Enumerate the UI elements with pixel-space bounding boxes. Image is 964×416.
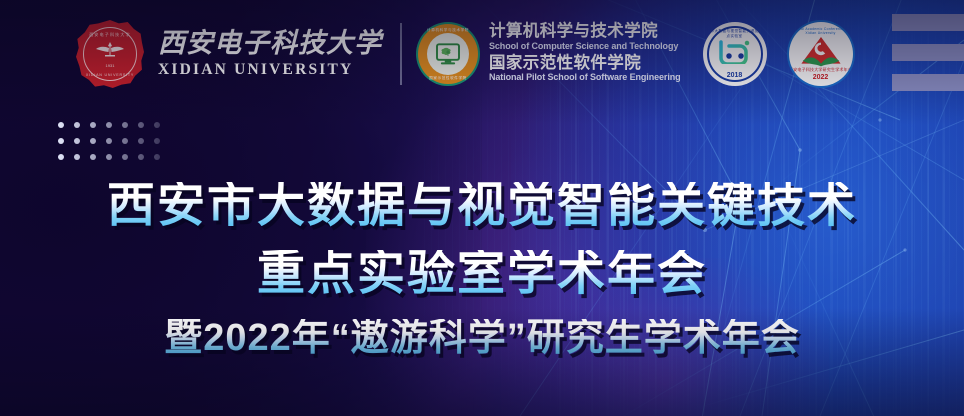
- dot-matrix-decoration: [58, 122, 170, 170]
- headline-line-2: 重点实验室学术年会: [0, 250, 964, 298]
- event-banner: 西安电子科技大学 1931 XIDIAN UNIVERSITY 西安电子科技大学…: [0, 0, 964, 416]
- headline-line-1: 西安市大数据与视觉智能关键技术: [0, 182, 964, 230]
- bottom-vignette: [0, 308, 964, 416]
- top-vignette: [0, 0, 964, 125]
